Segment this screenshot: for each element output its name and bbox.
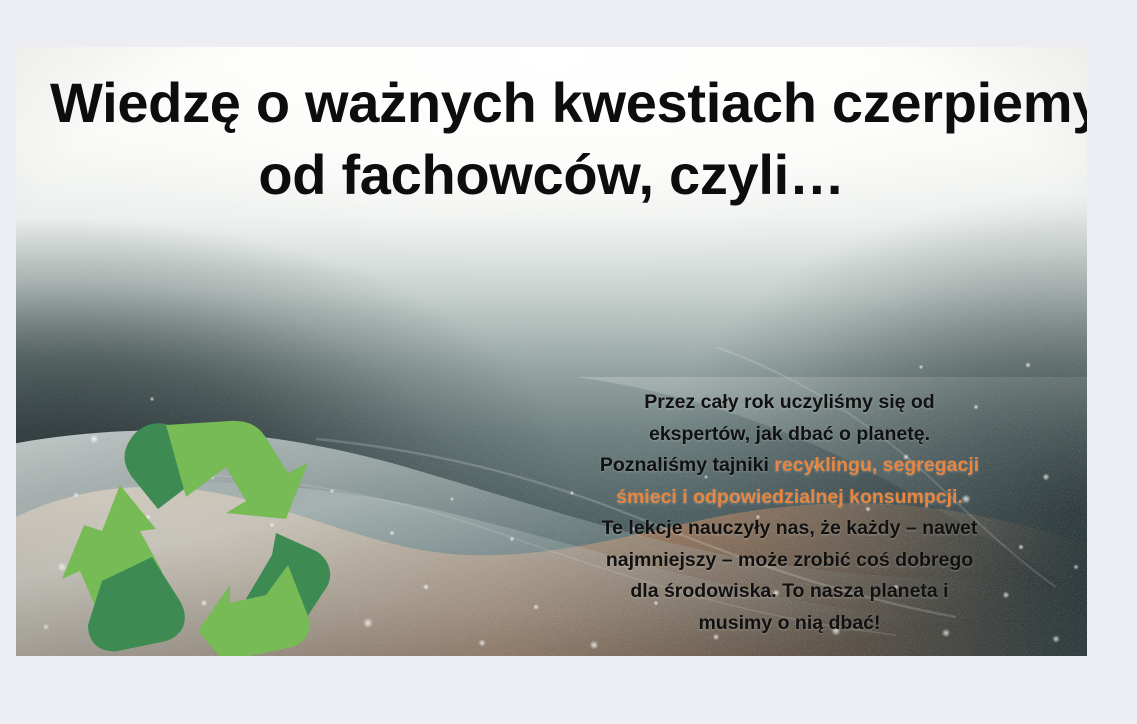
body-highlight-run: śmieci i odpowiedzialnej konsumpcji. xyxy=(616,486,963,508)
body-line-4: śmieci i odpowiedzialnej konsumpcji. xyxy=(537,482,1042,514)
title-line-1: Wiedzę o ważnych kwestiach czerpiemy xyxy=(50,67,1053,139)
body-text-run: musimy o nią dbać! xyxy=(698,612,880,634)
title-line-2: od fachowców, czyli… xyxy=(50,139,1053,211)
recycle-arrow-light-top xyxy=(166,421,308,519)
recycling-symbol-icon xyxy=(40,385,340,656)
screenshot-canvas: Wiedzę o ważnych kwestiach czerpiemy od … xyxy=(0,0,1137,724)
slide-body-text: Przez cały rok uczyliśmy się odekspertów… xyxy=(537,387,1042,639)
body-text-run: ekspertów, jak dbać o planetę. xyxy=(649,423,930,445)
body-line-1: Przez cały rok uczyliśmy się od xyxy=(537,387,1042,419)
body-line-6: najmniejszy – może zrobić coś dobrego xyxy=(537,545,1042,577)
body-line-2: ekspertów, jak dbać o planetę. xyxy=(537,419,1042,451)
body-text-run: Poznaliśmy tajniki xyxy=(600,454,774,476)
body-highlight-run: recyklingu, segregacji xyxy=(774,454,979,476)
body-line-5: Te lekcje nauczyły nas, że każdy – nawet xyxy=(537,513,1042,545)
body-text-run: Przez cały rok uczyliśmy się od xyxy=(644,391,934,413)
presentation-slide[interactable]: Wiedzę o ważnych kwestiach czerpiemy od … xyxy=(16,47,1087,656)
recycle-arrow-light-right xyxy=(198,565,310,656)
body-text-run: najmniejszy – może zrobić coś dobrego xyxy=(606,549,973,571)
body-line-7: dla środowiska. To nasza planeta i xyxy=(537,576,1042,608)
body-text-run: Te lekcje nauczyły nas, że każdy – nawet xyxy=(602,517,978,539)
slide-title: Wiedzę o ważnych kwestiach czerpiemy od … xyxy=(50,67,1053,211)
body-text-run: dla środowiska. To nasza planeta i xyxy=(630,580,948,602)
body-line-3: Poznaliśmy tajniki recyklingu, segregacj… xyxy=(537,450,1042,482)
body-line-8: musimy o nią dbać! xyxy=(537,608,1042,640)
